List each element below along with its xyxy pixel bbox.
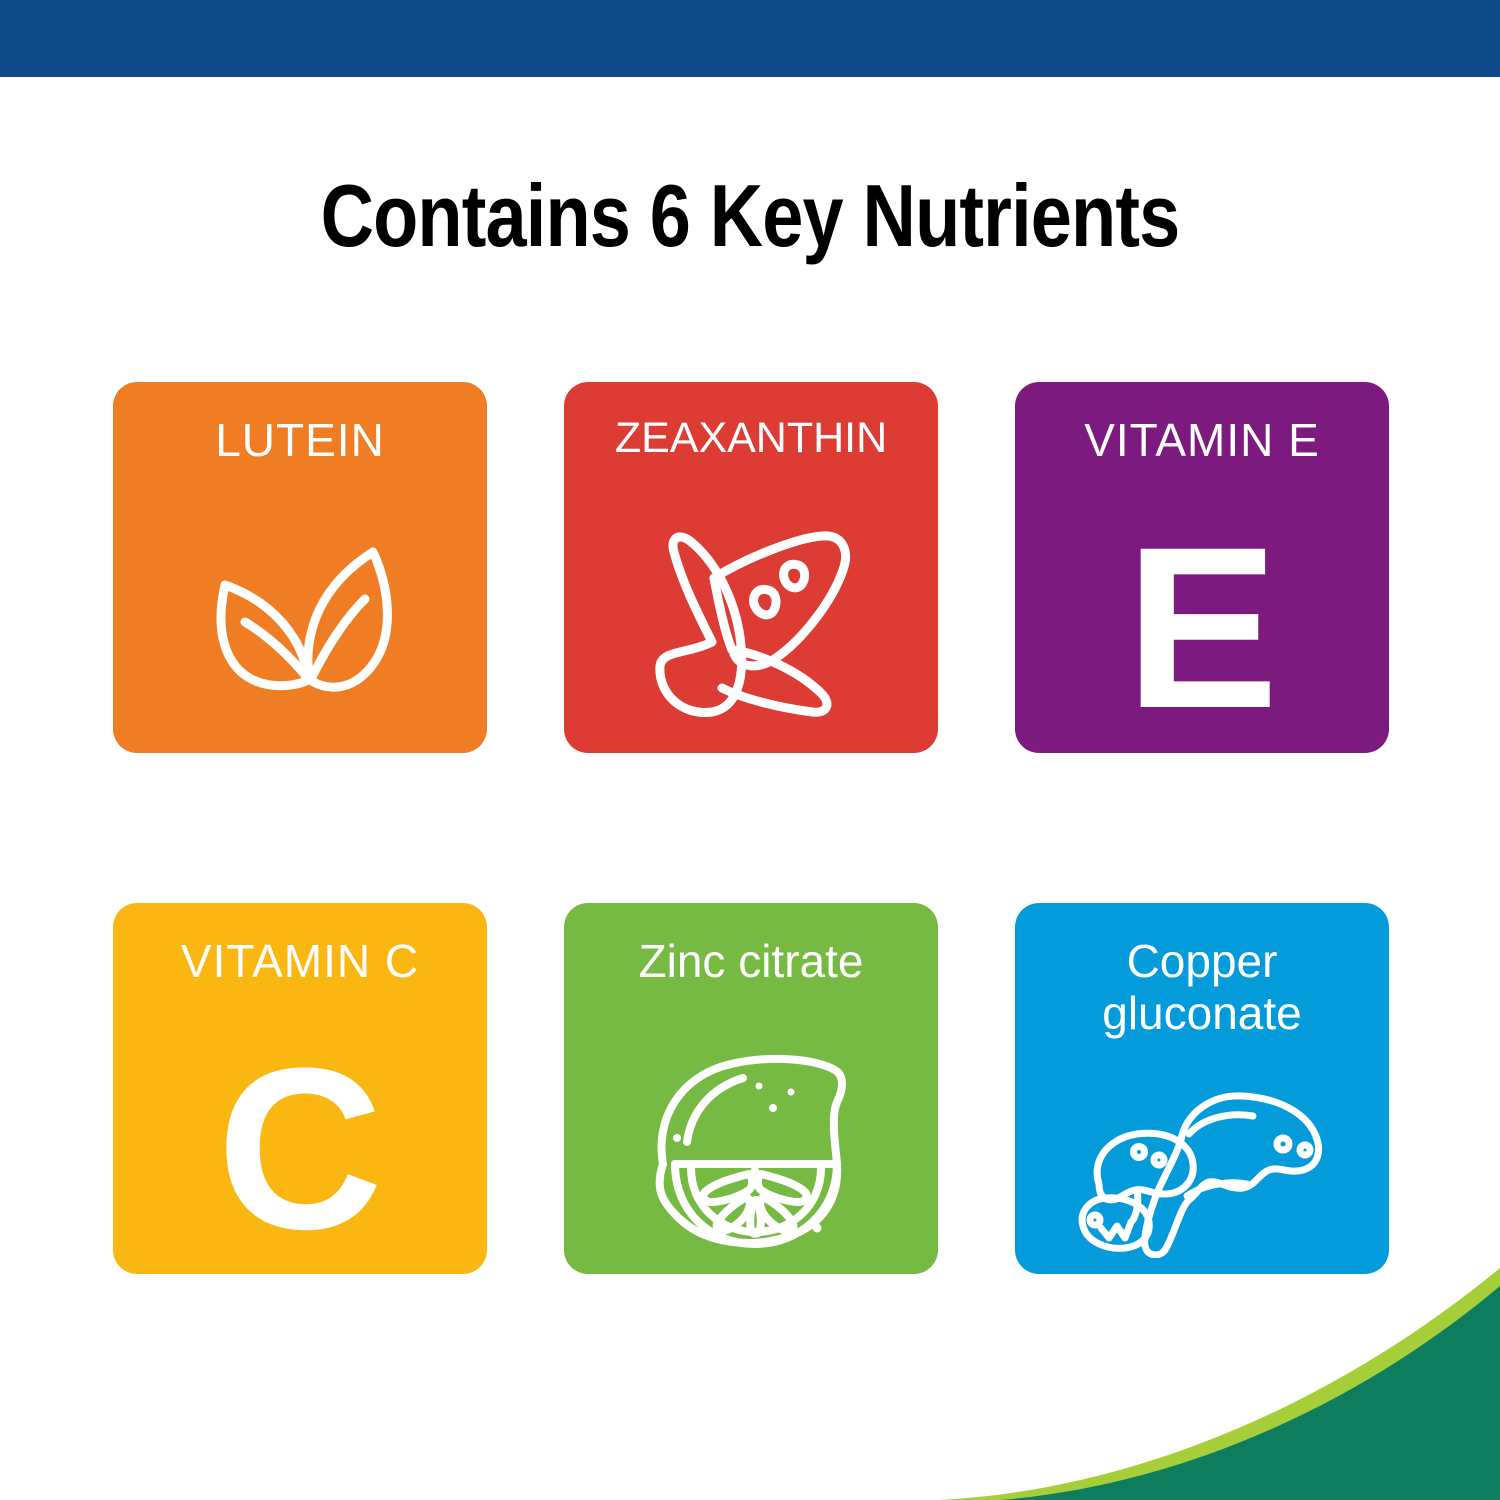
letter-c-icon: C	[113, 1023, 487, 1263]
bell-pepper-icon	[564, 502, 938, 742]
letter-c-glyph: C	[217, 1057, 383, 1241]
nutrient-card-label: Copper gluconate	[1015, 935, 1389, 1040]
nutrient-card-label: Zinc citrate	[564, 935, 938, 987]
nutrient-card-lutein[interactable]: LUTEIN	[113, 382, 487, 753]
nutrient-card-vitamin-c[interactable]: VITAMIN C C	[113, 903, 487, 1274]
nutrient-card-grid: LUTEIN ZEAXANTHIN	[113, 382, 1388, 1274]
nutrient-card-label: LUTEIN	[113, 414, 487, 466]
nutrient-card-zinc-citrate[interactable]: Zinc citrate	[564, 903, 938, 1274]
nutrient-card-copper-gluconate[interactable]: Copper gluconate	[1015, 903, 1389, 1274]
mushrooms-icon	[1015, 1053, 1389, 1274]
letter-e-glyph: E	[1125, 536, 1278, 720]
lemon-slice-icon	[564, 1031, 938, 1271]
two-leaves-icon	[113, 502, 487, 742]
nutrient-card-zeaxanthin[interactable]: ZEAXANTHIN	[564, 382, 938, 753]
letter-e-icon: E	[1015, 502, 1389, 742]
nutrient-card-label: ZEAXANTHIN	[564, 414, 938, 463]
nutrient-card-label: VITAMIN C	[113, 935, 487, 987]
nutrient-card-vitamin-e[interactable]: VITAMIN E E	[1015, 382, 1389, 753]
footer-swoosh	[0, 1240, 1500, 1500]
top-brand-bar	[0, 0, 1500, 77]
page-title: Contains 6 Key Nutrients	[120, 172, 1380, 260]
nutrient-card-label: VITAMIN E	[1015, 414, 1389, 466]
